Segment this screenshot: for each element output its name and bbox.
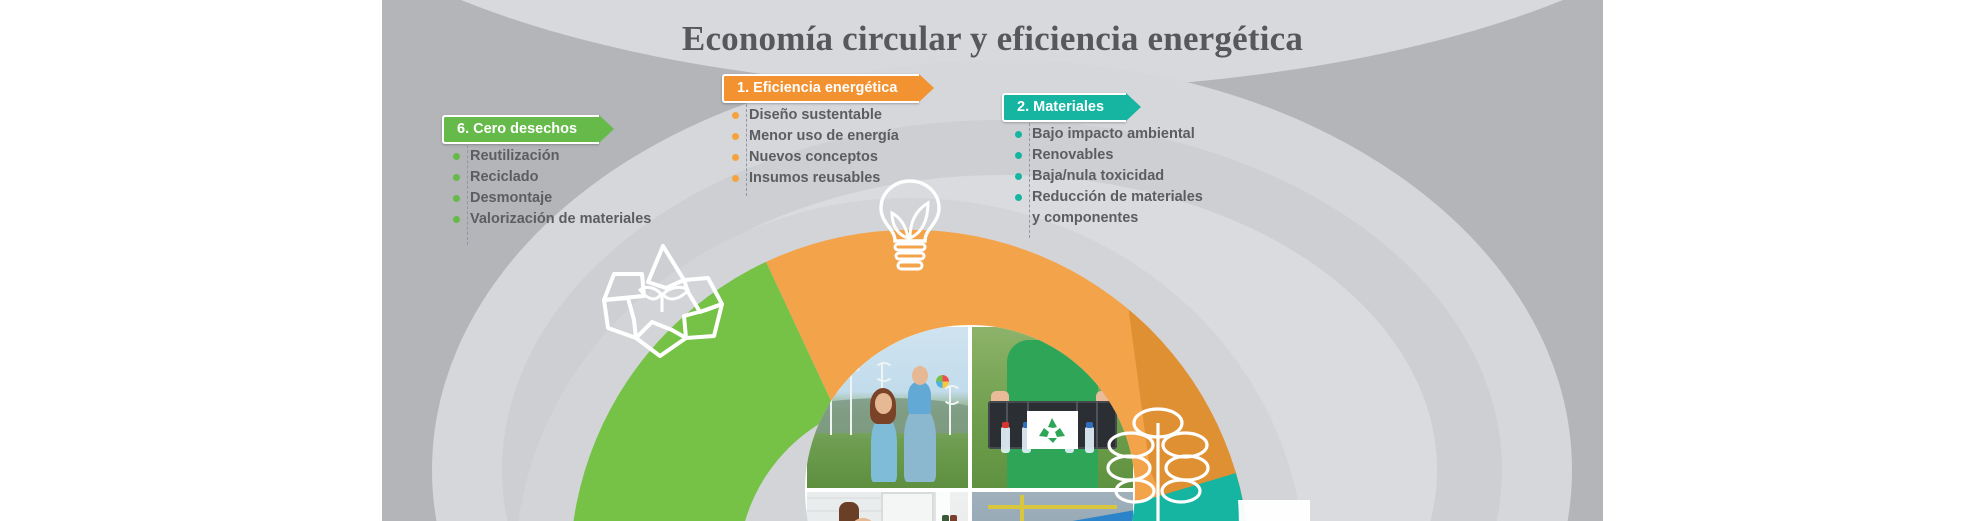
bullet-dot-icon — [453, 216, 460, 223]
list-item[interactable]: Desmontaje — [453, 189, 651, 207]
list-item-label: Desmontaje — [470, 190, 552, 206]
bullet-list-cero-desechos: Reutilización Reciclado Desmontaje Valor… — [453, 147, 651, 231]
poster-canvas-wrapper: Economía circular y eficiencia energétic… — [0, 0, 1980, 521]
list-item-label: Renovables — [1032, 147, 1113, 163]
bullet-dot-icon — [1015, 173, 1022, 180]
bullet-dot-icon — [453, 195, 460, 202]
list-item-label: Baja/nula toxicidad — [1032, 168, 1164, 184]
list-item-label: Insumos reusables — [749, 170, 880, 186]
recycle-badge-icon — [1037, 416, 1067, 444]
callout-eficiencia-energetica: 1. Eficiencia energética Diseño sustenta… — [722, 74, 919, 103]
list-item-label: Menor uso de energía — [749, 128, 899, 144]
list-item[interactable]: Reducción de materiales — [1015, 188, 1203, 206]
bullet-dot-icon — [1015, 152, 1022, 159]
bullet-dot-icon — [732, 154, 739, 161]
badge-label: 1. Eficiencia energética — [737, 80, 897, 96]
bullet-list-eficiencia: Diseño sustentable Menor uso de energía … — [732, 106, 899, 190]
list-item[interactable]: Reciclado — [453, 168, 651, 186]
list-item[interactable]: Insumos reusables — [732, 169, 899, 187]
badge-materiales[interactable]: 2. Materiales — [1002, 93, 1126, 122]
bullet-dot-icon — [732, 133, 739, 140]
badge-eficiencia-energetica[interactable]: 1. Eficiencia energética — [722, 74, 919, 103]
bullet-dot-icon — [453, 174, 460, 181]
list-item[interactable]: Diseño sustentable — [732, 106, 899, 124]
list-item[interactable]: Renovables — [1015, 146, 1203, 164]
photo-recycling-plant — [970, 490, 1135, 521]
bullet-dot-icon — [453, 153, 460, 160]
bullet-dot-icon — [732, 112, 739, 119]
list-item[interactable]: Menor uso de energía — [732, 127, 899, 145]
list-item[interactable]: Valorización de materiales — [453, 210, 651, 228]
bullet-dot-icon — [732, 175, 739, 182]
list-item[interactable]: Nuevos conceptos — [732, 148, 899, 166]
photo-recycling-crate — [970, 325, 1135, 490]
list-item-label: y componentes — [1032, 210, 1138, 226]
list-item-label: Nuevos conceptos — [749, 149, 878, 165]
list-item-label: Valorización de materiales — [470, 211, 651, 227]
badge-label: 2. Materiales — [1017, 99, 1104, 115]
list-item[interactable]: Bajo impacto ambiental — [1015, 125, 1203, 143]
bullet-list-materiales: Bajo impacto ambiental Renovables Baja/n… — [1015, 125, 1203, 230]
poster-canvas: Economía circular y eficiencia energétic… — [382, 0, 1603, 521]
bullet-dot-icon — [1015, 194, 1022, 201]
callout-cero-desechos: 6. Cero desechos Reutilización Reciclado… — [442, 115, 599, 144]
callout-materiales: 2. Materiales Bajo impacto ambiental Ren… — [1002, 93, 1126, 122]
list-item-label: Diseño sustentable — [749, 107, 882, 123]
photo-wind-farm-family — [805, 325, 970, 490]
list-item-label: Reciclado — [470, 169, 539, 185]
list-item-label: Reutilización — [470, 148, 559, 164]
page-title: Economía circular y eficiencia energétic… — [382, 19, 1603, 59]
list-item-label: Reducción de materiales — [1032, 189, 1203, 205]
bullet-dot-icon — [1015, 131, 1022, 138]
badge-cero-desechos[interactable]: 6. Cero desechos — [442, 115, 599, 144]
list-item-label: Bajo impacto ambiental — [1032, 126, 1195, 142]
list-item[interactable]: Reutilización — [453, 147, 651, 165]
badge-label: 6. Cero desechos — [457, 121, 577, 137]
list-item[interactable]: Baja/nula toxicidad — [1015, 167, 1203, 185]
list-item-continuation: y componentes — [1015, 209, 1203, 227]
photo-woman-refrigerator — [805, 490, 970, 521]
center-photo-mosaic — [805, 325, 1135, 521]
